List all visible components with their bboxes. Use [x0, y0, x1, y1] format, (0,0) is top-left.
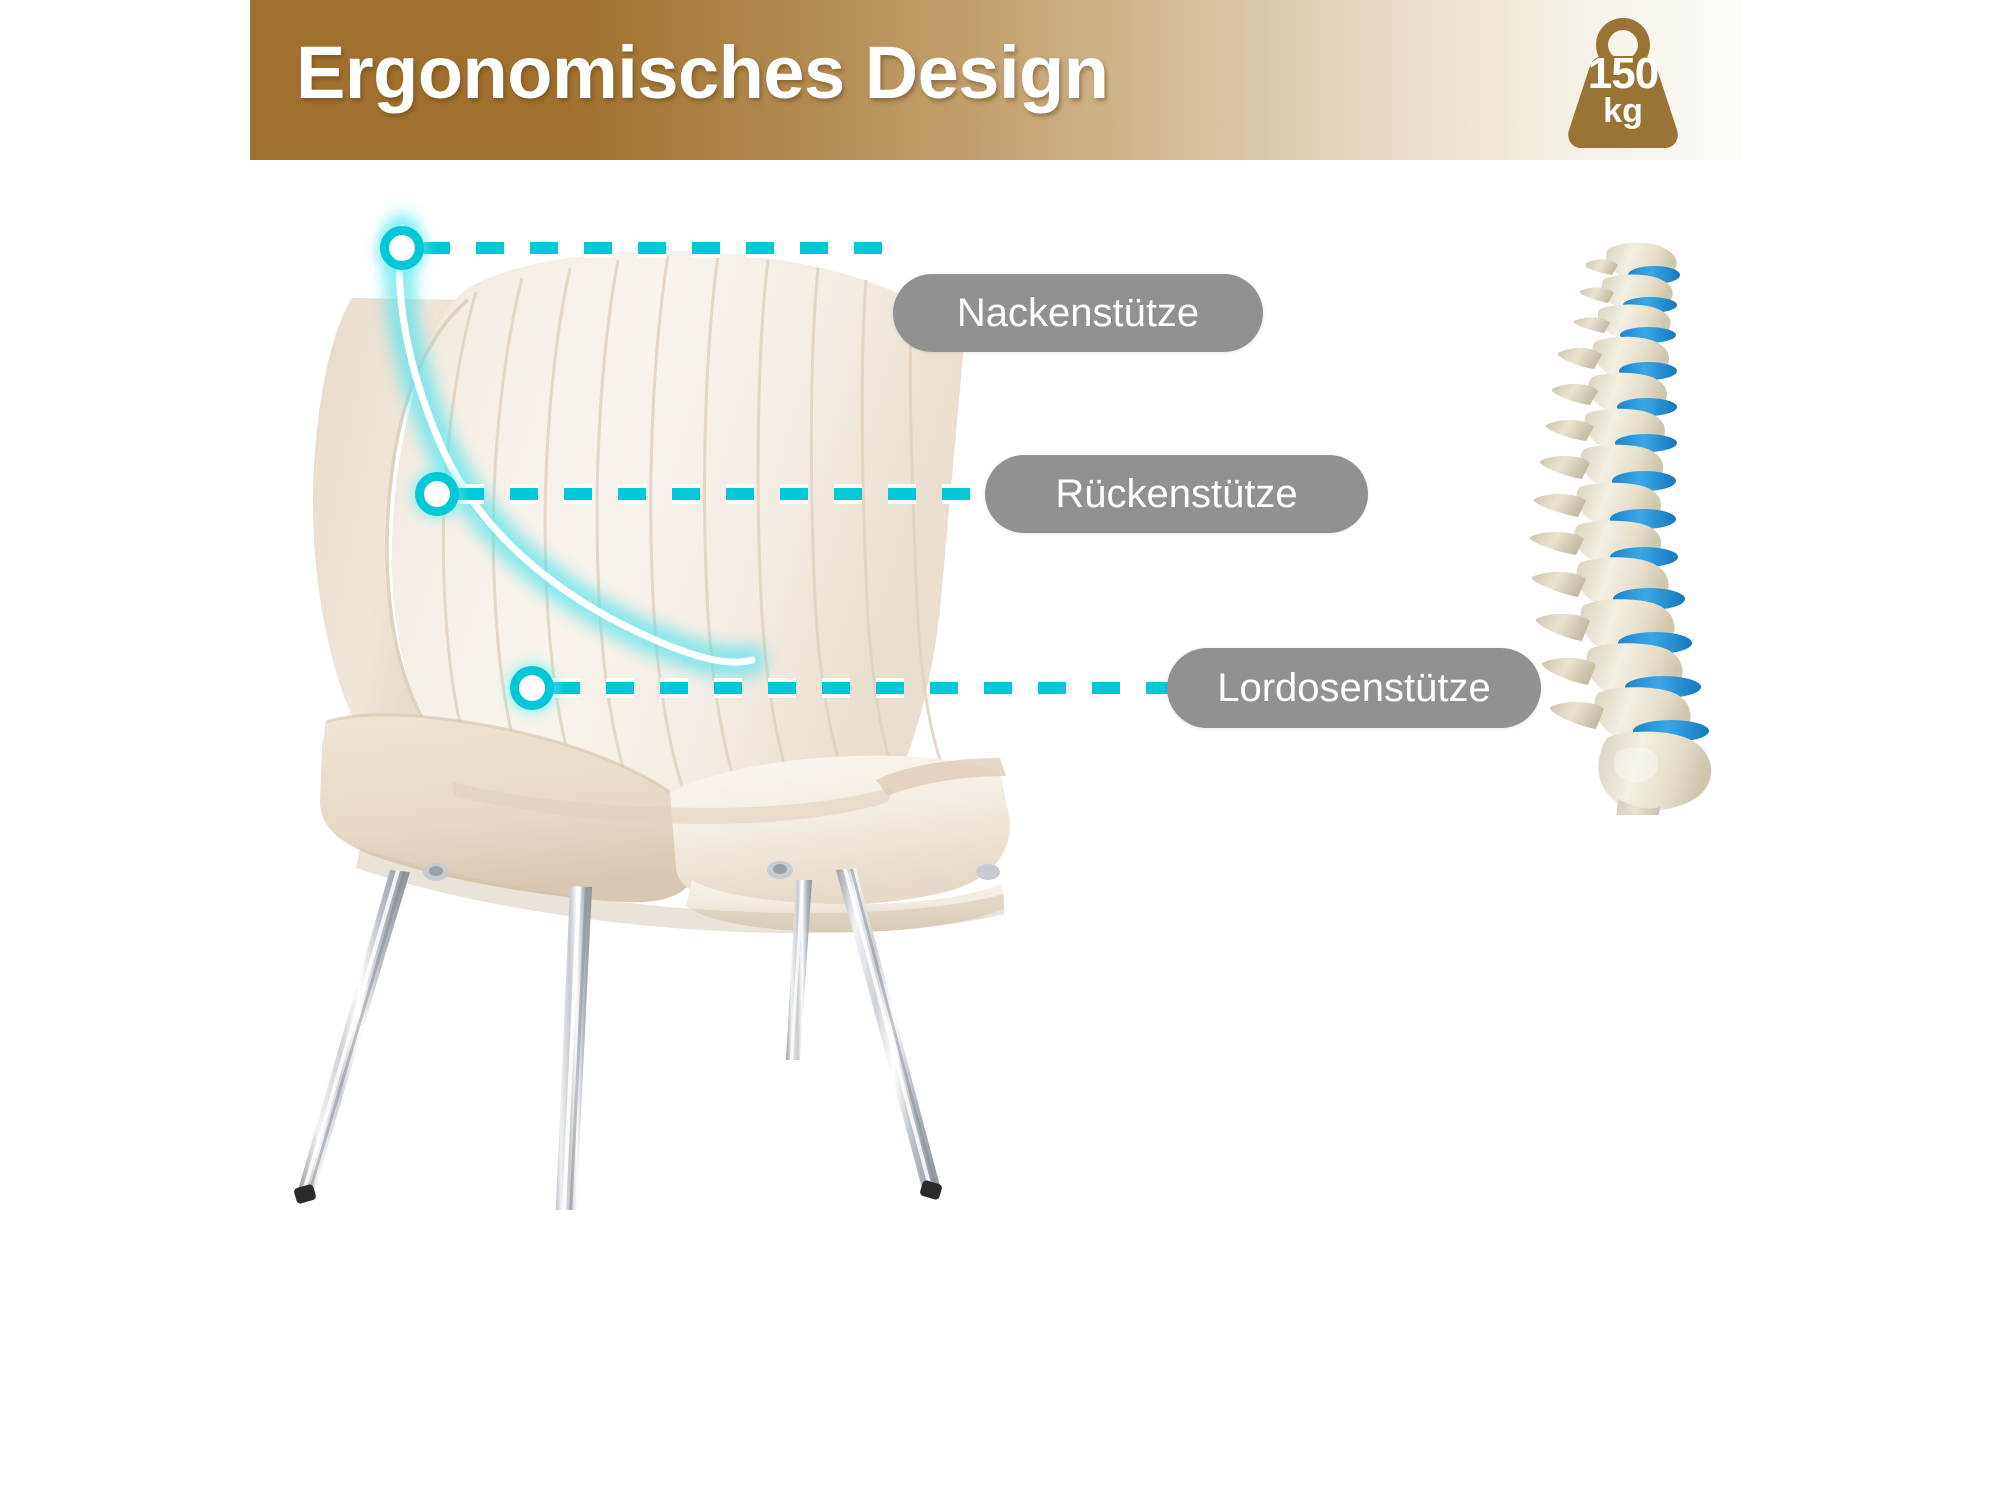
chair-leg-front-left	[293, 870, 410, 1204]
weight-capacity-badge: 150 kg	[1546, 12, 1700, 152]
weight-value: 150	[1546, 52, 1700, 96]
chair-leg-front-right	[550, 886, 592, 1210]
spine-anatomy-image	[1490, 235, 1800, 815]
cervical-vertebrae	[1574, 243, 1680, 343]
callout-back-support: Rückenstütze	[985, 455, 1368, 533]
lumbar-vertebrae	[1532, 557, 1709, 742]
weight-unit: kg	[1546, 94, 1700, 128]
human-spine-illustration	[1490, 235, 1800, 815]
callout-neck-support: Nackenstütze	[893, 274, 1263, 352]
infographic-canvas: Ergonomisches Design 150 kg	[0, 0, 2000, 1500]
sacrum-coccyx	[1598, 732, 1711, 815]
callout-lumbar-support: Lordosenstütze	[1167, 648, 1541, 728]
thoracic-vertebrae	[1530, 337, 1678, 567]
page-title: Ergonomisches Design	[296, 24, 1108, 120]
